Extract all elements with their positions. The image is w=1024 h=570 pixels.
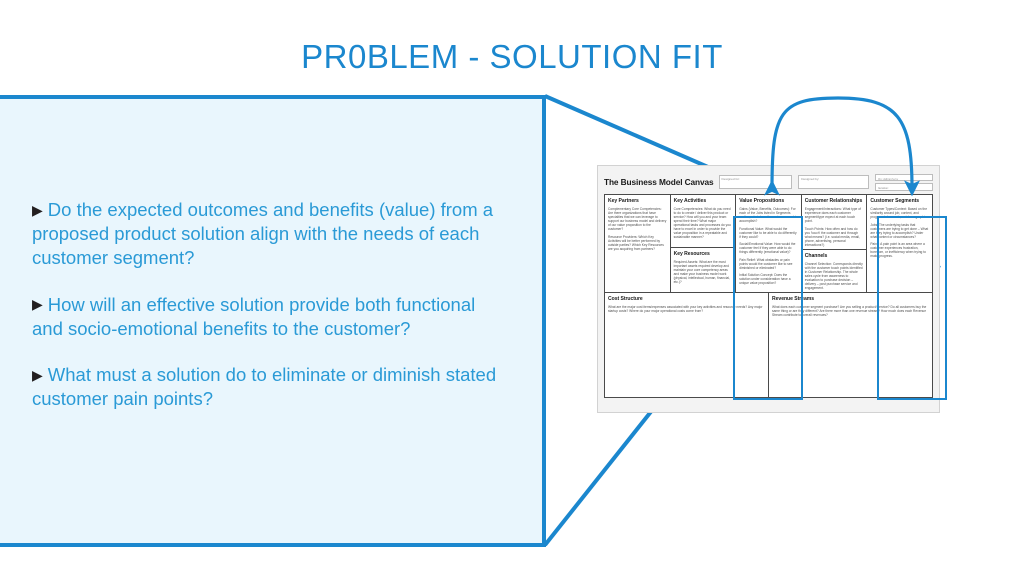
block-title: Value Propositions: [739, 198, 798, 204]
page-title: PR0BLEM - SOLUTION FIT: [0, 38, 1024, 76]
block-paragraph: Channel Selection: Corresponds directly …: [805, 262, 864, 290]
canvas-meta-fields: On: dd/mm/yyyy Iteration:: [875, 174, 933, 191]
block-title: Key Resources: [674, 251, 733, 257]
designed-for-field[interactable]: Designed for:: [719, 175, 793, 189]
triangle-bullet-icon: ▶: [32, 367, 43, 383]
block-title: Channels: [805, 253, 864, 259]
block-paragraph: What are the major cost items/expenses a…: [608, 305, 765, 313]
canvas-block-key-activities[interactable]: Key Activities Core Competencies: What d…: [671, 195, 736, 247]
block-paragraph: Pain Relief: What obstacles or pain poin…: [739, 258, 798, 270]
block-title: Key Partners: [608, 198, 667, 204]
canvas-column-cost-structure: Cost Structure What are the major cost i…: [605, 293, 769, 397]
block-paragraph: Functional Value: What would the custome…: [739, 227, 798, 239]
block-paragraph: Gains (Value, Benefits, Outcomes): For e…: [739, 207, 798, 223]
block-title: Customer Segments: [870, 198, 929, 204]
business-model-canvas-figure: The Business Model Canvas Designed for: …: [597, 165, 940, 413]
block-paragraph: Engagement/Interactions: What type of ex…: [805, 207, 864, 223]
list-item: ▶What must a solution do to eliminate or…: [32, 363, 502, 411]
block-title: Revenue Streams: [772, 296, 929, 302]
canvas-block-customer-relationships[interactable]: Customer Relationships Engagement/Intera…: [802, 195, 867, 249]
canvas-top-row: Key Partners Complementary Core Competen…: [605, 195, 932, 292]
block-paragraph: Initial Solution Concept: Does the solut…: [739, 273, 798, 285]
bullet-text: What must a solution do to eliminate or …: [32, 364, 496, 409]
triangle-bullet-icon: ▶: [32, 202, 43, 218]
canvas-block-channels[interactable]: Channels Channel Selection: Corresponds …: [802, 249, 867, 292]
block-title: Cost Structure: [608, 296, 765, 302]
canvas-block-revenue-streams[interactable]: Revenue Streams What does each customer …: [769, 293, 932, 397]
bullet-text: Do the expected outcomes and benefits (v…: [32, 199, 493, 268]
date-field[interactable]: On: dd/mm/yyyy: [875, 174, 933, 182]
canvas-block-cost-structure[interactable]: Cost Structure What are the major cost i…: [605, 293, 768, 397]
block-title: Customer Relationships: [805, 198, 864, 204]
list-item: ▶Do the expected outcomes and benefits (…: [32, 198, 502, 271]
block-paragraph: Resource Providers: Which Key Activities…: [608, 235, 667, 251]
block-paragraph: Customer Types/Context: Based on the sim…: [870, 207, 929, 219]
callout-bullet-list: ▶Do the expected outcomes and benefits (…: [32, 198, 502, 412]
canvas-column-customer-relationships: Customer Relationships Engagement/Intera…: [802, 195, 868, 292]
canvas-title: The Business Model Canvas: [604, 177, 714, 187]
canvas-column-revenue-streams: Revenue Streams What does each customer …: [769, 293, 932, 397]
block-title: Key Activities: [674, 198, 733, 204]
block-paragraph: What does each customer segment purchase…: [772, 305, 929, 317]
block-paragraph: Core Competencies: What do you need to d…: [674, 207, 733, 239]
bullet-text: How will an effective solution provide b…: [32, 294, 475, 339]
canvas-column-key-partners: Key Partners Complementary Core Competen…: [605, 195, 671, 292]
canvas-block-key-resources[interactable]: Key Resources Required Assets: What are …: [671, 247, 736, 292]
designed-by-field[interactable]: Designed by:: [798, 175, 869, 189]
canvas-column-key-activities: Key Activities Core Competencies: What d…: [671, 195, 737, 292]
block-paragraph: Jobs: The underlying tasks that customer…: [870, 223, 929, 239]
block-paragraph: Pains: A pain point is an area where a c…: [870, 242, 929, 258]
block-paragraph: Complementary Core Competencies: Are the…: [608, 207, 667, 231]
canvas-block-customer-segments[interactable]: Customer Segments Customer Types/Context…: [867, 195, 932, 292]
canvas-block-key-partners[interactable]: Key Partners Complementary Core Competen…: [605, 195, 670, 292]
canvas-header: The Business Model Canvas Designed for: …: [604, 172, 933, 192]
canvas-column-customer-segments: Customer Segments Customer Types/Context…: [867, 195, 932, 292]
iteration-field[interactable]: Iteration:: [875, 183, 933, 191]
triangle-bullet-icon: ▶: [32, 296, 43, 312]
canvas-column-value-propositions: Value Propositions Gains (Value, Benefit…: [736, 195, 802, 292]
block-paragraph: Social/Emotional Value: How would the cu…: [739, 242, 798, 254]
block-paragraph: Touch Points: How often and how do you '…: [805, 227, 864, 247]
canvas-grid: Key Partners Complementary Core Competen…: [604, 194, 933, 398]
list-item: ▶How will an effective solution provide …: [32, 293, 502, 341]
canvas-block-value-propositions[interactable]: Value Propositions Gains (Value, Benefit…: [736, 195, 801, 292]
canvas-bottom-row: Cost Structure What are the major cost i…: [605, 292, 932, 397]
block-paragraph: Required Assets: What are the most impor…: [674, 260, 733, 284]
